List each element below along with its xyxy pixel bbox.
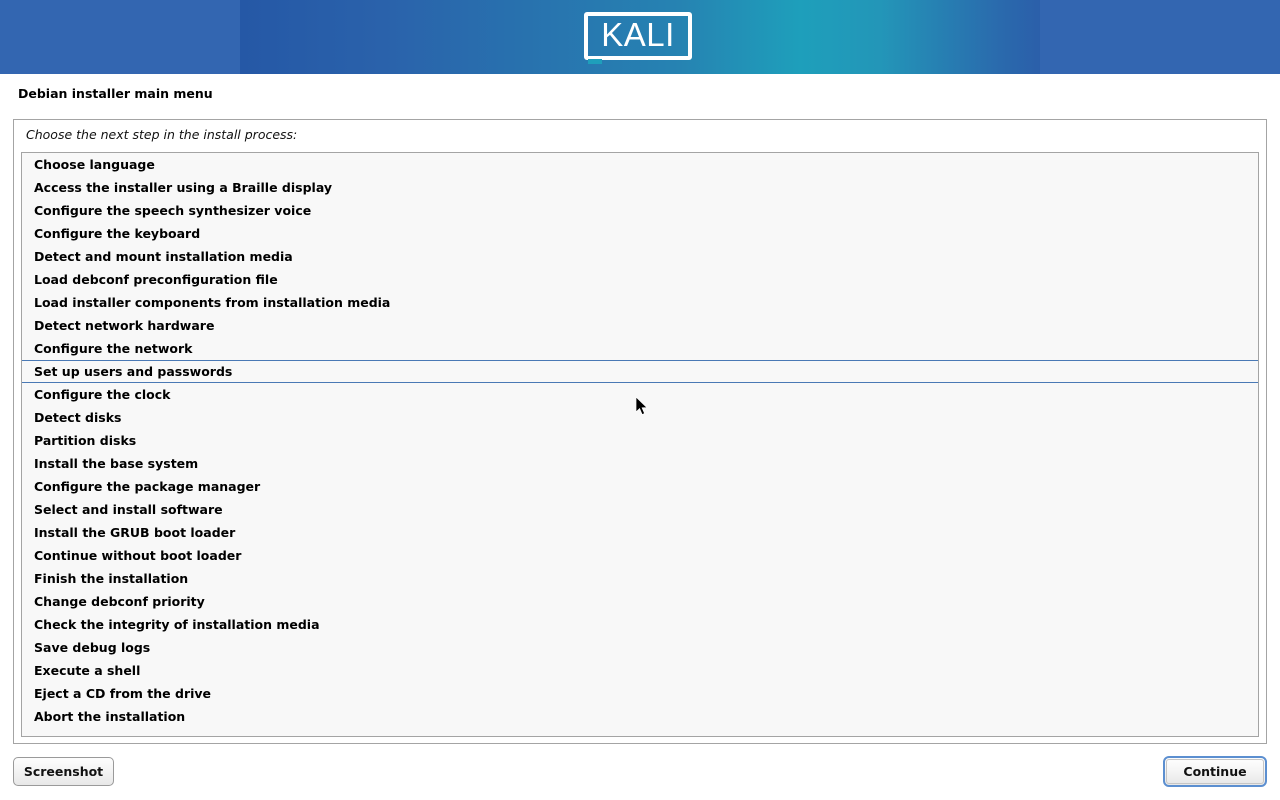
- kali-logo-text: KALI: [584, 12, 692, 60]
- list-item[interactable]: Abort the installation: [22, 705, 1258, 728]
- list-item[interactable]: Detect disks: [22, 406, 1258, 429]
- continue-button-label: Continue: [1166, 759, 1264, 784]
- list-item[interactable]: Detect network hardware: [22, 314, 1258, 337]
- list-item[interactable]: Configure the package manager: [22, 475, 1258, 498]
- installer-banner: KALI: [0, 0, 1280, 74]
- list-item[interactable]: Configure the network: [22, 337, 1258, 360]
- continue-button[interactable]: Continue: [1163, 756, 1267, 787]
- list-item[interactable]: Choose language: [22, 153, 1258, 176]
- list-item[interactable]: Eject a CD from the drive: [22, 682, 1258, 705]
- list-item[interactable]: Load installer components from installat…: [22, 291, 1258, 314]
- list-item[interactable]: Detect and mount installation media: [22, 245, 1258, 268]
- prompt-text: Choose the next step in the install proc…: [26, 127, 297, 142]
- list-item[interactable]: Install the GRUB boot loader: [22, 521, 1258, 544]
- list-item[interactable]: Continue without boot loader: [22, 544, 1258, 567]
- kali-logo: KALI: [584, 12, 696, 64]
- list-item[interactable]: Set up users and passwords: [22, 360, 1258, 383]
- list-item[interactable]: Access the installer using a Braille dis…: [22, 176, 1258, 199]
- list-item[interactable]: Configure the speech synthesizer voice: [22, 199, 1258, 222]
- list-item[interactable]: Configure the clock: [22, 383, 1258, 406]
- list-item[interactable]: Change debconf priority: [22, 590, 1258, 613]
- list-item[interactable]: Execute a shell: [22, 659, 1258, 682]
- main-panel: Choose the next step in the install proc…: [13, 119, 1267, 744]
- list-item[interactable]: Save debug logs: [22, 636, 1258, 659]
- page-title: Debian installer main menu: [18, 86, 213, 101]
- screenshot-button[interactable]: Screenshot: [13, 757, 114, 786]
- list-item[interactable]: Finish the installation: [22, 567, 1258, 590]
- list-item[interactable]: Configure the keyboard: [22, 222, 1258, 245]
- list-item[interactable]: Select and install software: [22, 498, 1258, 521]
- list-item[interactable]: Partition disks: [22, 429, 1258, 452]
- list-item[interactable]: Check the integrity of installation medi…: [22, 613, 1258, 636]
- install-step-list[interactable]: Choose languageAccess the installer usin…: [21, 152, 1259, 737]
- list-item[interactable]: Install the base system: [22, 452, 1258, 475]
- list-item[interactable]: Load debconf preconfiguration file: [22, 268, 1258, 291]
